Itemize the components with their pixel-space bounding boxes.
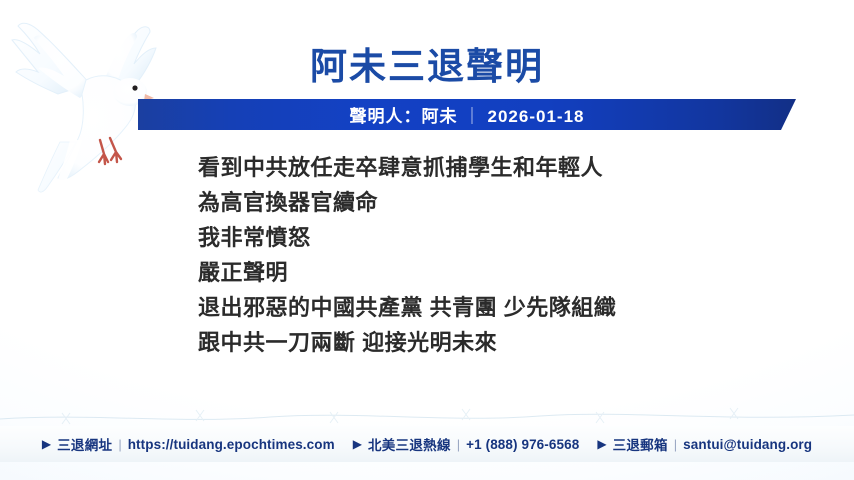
footer-label-hotline: 北美三退熱線	[368, 434, 451, 454]
ribbon-separator: ｜	[464, 102, 482, 127]
footer-group-hotline: ▶ 北美三退熱線 | +1 (888) 976-6568	[353, 434, 580, 454]
statement-body: 看到中共放任走卒肆意抓捕學生和年輕人 為高官換器官續命 我非常憤怒 嚴正聲明 退…	[198, 150, 798, 360]
footer-group-website: ▶ 三退網址 | https://tuidang.epochtimes.com	[42, 434, 335, 454]
statement-line: 嚴正聲明	[198, 255, 798, 290]
footer-value-email[interactable]: santui@tuidang.org	[683, 437, 812, 452]
declaration-date: 2026-01-18	[488, 107, 585, 126]
footer-divider: |	[118, 437, 121, 452]
footer-value-hotline[interactable]: +1 (888) 976-6568	[466, 437, 579, 452]
ribbon-text: 聲明人：阿未｜2026-01-18	[350, 102, 585, 127]
statement-line: 退出邪惡的中國共產黨 共青團 少先隊組織	[198, 290, 798, 325]
contact-footer-bar: ▶ 三退網址 | https://tuidang.epochtimes.com …	[0, 426, 854, 462]
footer-label-email: 三退郵箱	[613, 434, 668, 454]
three-withdrawals-statement-poster: 阿未三退聲明 聲明人：阿未｜2026-01-18 看到中共放任走卒肆意抓捕學生和…	[0, 0, 854, 480]
footer-divider: |	[457, 437, 460, 452]
footer-group-email: ▶ 三退郵箱 | santui@tuidang.org	[597, 434, 812, 454]
triangle-bullet-icon: ▶	[42, 438, 51, 450]
triangle-bullet-icon: ▶	[597, 438, 606, 450]
statement-line: 為高官換器官續命	[198, 185, 798, 220]
statement-line: 看到中共放任走卒肆意抓捕學生和年輕人	[198, 150, 798, 185]
footer-value-website[interactable]: https://tuidang.epochtimes.com	[128, 437, 335, 452]
footer-divider: |	[674, 437, 677, 452]
statement-line: 跟中共一刀兩斷 迎接光明未來	[198, 325, 798, 360]
declaration-ribbon-bar: 聲明人：阿未｜2026-01-18	[138, 99, 796, 130]
footer-label-website: 三退網址	[57, 434, 112, 454]
page-title: 阿未三退聲明	[0, 48, 854, 85]
declarant-label: 聲明人：阿未	[350, 107, 458, 126]
triangle-bullet-icon: ▶	[353, 438, 362, 450]
statement-line: 我非常憤怒	[198, 220, 798, 255]
